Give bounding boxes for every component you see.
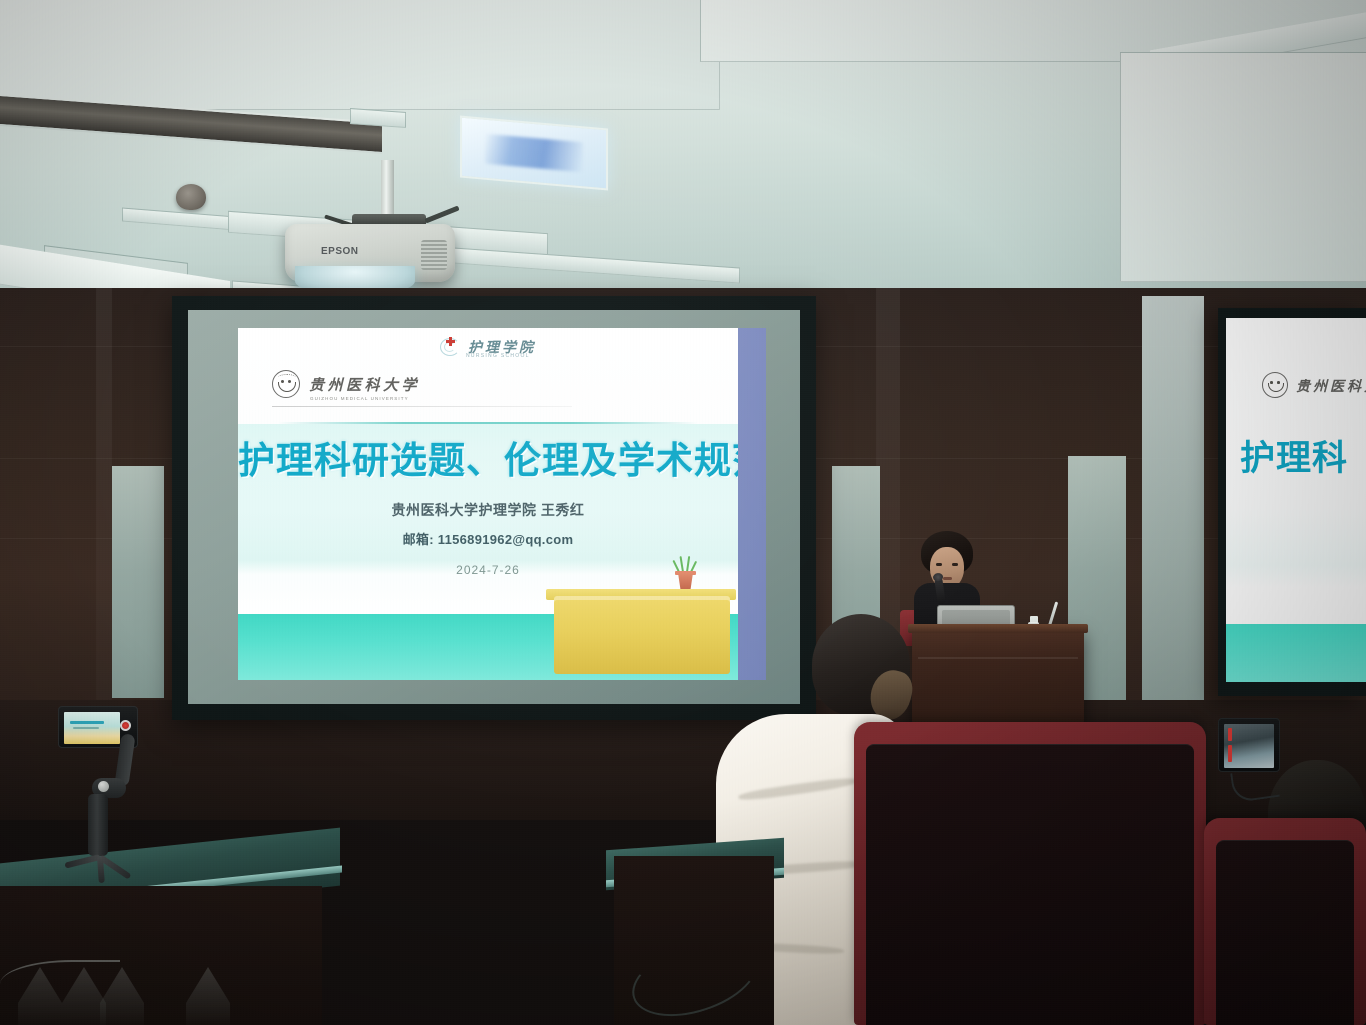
- podium: [912, 628, 1084, 724]
- slide-author: 贵州医科大学护理学院 王秀红: [238, 500, 738, 520]
- tripod-legs: [68, 850, 144, 878]
- ceiling: [0, 0, 1366, 300]
- projection-screen: 护理学院 NURSING SCHOOL 贵州医科大学 GUIZHOU MEDIC…: [172, 296, 816, 720]
- wall-light-panel-left: [112, 466, 164, 698]
- projector-vent-grille: [421, 240, 447, 270]
- phone-screen-preview[interactable]: [64, 712, 120, 744]
- chair-back-inner-right: [1216, 840, 1354, 1025]
- podium-groove: [918, 657, 1078, 659]
- secondary-slide-accent-band: [1226, 624, 1366, 682]
- university-name-cn: 贵州医科大学: [309, 374, 420, 395]
- wall-light-panel-right-b: [1142, 296, 1204, 708]
- university-name-en: GUIZHOU MEDICAL UNIVERSITY: [310, 396, 409, 401]
- auditorium-chair-right: [1204, 818, 1366, 1025]
- phone-right-ui-marker: [1228, 728, 1232, 741]
- phone-gimbal-rig[interactable]: [52, 706, 172, 902]
- ceiling-light-panel: [460, 116, 608, 191]
- nursing-school-name-en: NURSING SCHOOL: [466, 353, 530, 359]
- projector-mount-pole: [381, 160, 394, 222]
- medical-cross-icon: [446, 337, 455, 346]
- nursing-school-logo: 护理学院 NURSING SCHOOL: [440, 336, 536, 358]
- secondary-university-seal-icon: [1262, 372, 1288, 398]
- presentation-slide: 护理学院 NURSING SCHOOL 贵州医科大学 GUIZHOU MEDIC…: [238, 328, 738, 680]
- phone-right-ui-marker: [1228, 745, 1232, 762]
- presenter-eye-left: [936, 563, 942, 566]
- gimbal-handle[interactable]: [88, 794, 108, 856]
- slide-email: 邮箱: 1156891962@qq.com: [238, 529, 738, 548]
- desk-panel-arch: [186, 967, 230, 1025]
- lecture-hall-photo: EPSON 护理学院 NURSING SCH: [0, 0, 1366, 1025]
- secondary-slide-title: 护理科: [1240, 430, 1348, 481]
- secondary-slide: 贵州医科大 护理科: [1226, 318, 1366, 682]
- smoke-detector-icon: [176, 184, 206, 210]
- seal-smile: [278, 382, 296, 392]
- chair-back-inner: [866, 744, 1194, 1025]
- record-button-icon[interactable]: [120, 720, 131, 731]
- auditorium-chair-center: [854, 722, 1206, 1025]
- presenter-mouth: [943, 577, 952, 580]
- slide-divider-line: [278, 422, 698, 424]
- light-panel-reflection: [485, 134, 583, 173]
- slide-desk-illustration: [554, 596, 730, 674]
- recording-phone-right[interactable]: [1218, 718, 1280, 772]
- phone-preview-title-line: [70, 721, 104, 724]
- presenter-eye-right: [952, 563, 958, 566]
- podium-top-lip: [908, 624, 1088, 633]
- slide-date: 2024-7-26: [238, 563, 738, 577]
- university-logo: 贵州医科大学 GUIZHOU MEDICAL UNIVERSITY: [272, 370, 420, 398]
- projector-brand-label: EPSON: [321, 246, 359, 257]
- slide-title: 护理科研选题、伦理及学术规范: [238, 430, 738, 484]
- front-desk-left: [0, 886, 322, 1025]
- university-seal-icon: [272, 370, 300, 398]
- slide-plant-icon: [676, 555, 694, 572]
- logo-underline: [272, 406, 572, 407]
- secondary-university-name: 贵州医科大: [1296, 376, 1366, 396]
- secondary-projection-screen: 贵州医科大 护理科: [1218, 308, 1366, 696]
- red-cross-icon: [440, 336, 462, 358]
- phone-preview-subtitle-line: [73, 727, 99, 729]
